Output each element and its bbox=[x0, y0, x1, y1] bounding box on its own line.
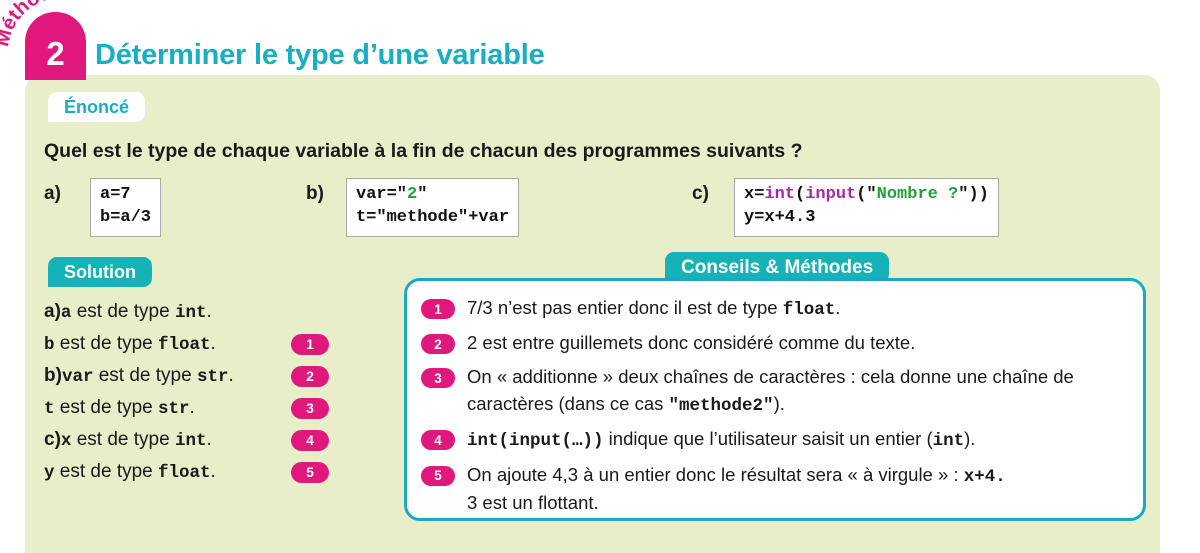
solution-end: . bbox=[228, 365, 233, 386]
solution-mid: est de type bbox=[55, 333, 159, 354]
solution-end: . bbox=[190, 397, 195, 418]
advice-part2: ). bbox=[774, 393, 785, 414]
code-c-p2: ( bbox=[795, 185, 805, 204]
solution-var: a bbox=[61, 303, 72, 323]
solution-end: . bbox=[211, 461, 216, 482]
advice-text: int(input(…)) indique que l’utilisateur … bbox=[467, 426, 975, 454]
solution-line: a)a est de type int. bbox=[44, 301, 212, 323]
solution-row: a)a est de type int. bbox=[44, 296, 344, 328]
solution-label: a) bbox=[44, 301, 61, 322]
advice-list: 1 7/3 n’est pas entier donc il est de ty… bbox=[421, 295, 1131, 524]
solution-label: b) bbox=[44, 365, 62, 386]
solution-row: b est de type float. 1 bbox=[44, 328, 344, 360]
solution-pill: 2 bbox=[291, 366, 329, 387]
solution-mid: est de type bbox=[71, 301, 175, 322]
advice-row: 4 int(input(…)) indique que l’utilisateu… bbox=[421, 426, 1131, 454]
code-box-a: a=7 b=a/3 bbox=[90, 178, 161, 237]
question-text: Quel est le type de chaque variable à la… bbox=[44, 140, 803, 163]
solution-row: y est de type float. 5 bbox=[44, 456, 344, 488]
advice-mono1: float bbox=[783, 300, 836, 320]
code-letter-a: a) bbox=[44, 183, 61, 205]
advice-part3: ). bbox=[964, 428, 975, 449]
solution-type: int bbox=[175, 431, 207, 451]
solution-pill: 4 bbox=[291, 430, 329, 451]
advice-mono1: x+4. bbox=[964, 467, 1006, 487]
method-badge: 2 bbox=[25, 12, 86, 80]
solution-line: b)var est de type str. bbox=[44, 365, 234, 387]
code-c-p3: (" bbox=[856, 185, 876, 204]
advice-pill: 2 bbox=[421, 334, 455, 354]
code-b-line2: t="methode"+var bbox=[356, 208, 509, 227]
solution-mid: est de type bbox=[55, 461, 159, 482]
advice-mono1: int(input(…)) bbox=[467, 431, 604, 451]
solution-type: float bbox=[158, 463, 211, 483]
advice-part1: On ajoute 4,3 à un entier donc le résult… bbox=[467, 464, 964, 485]
solution-line: y est de type float. bbox=[44, 461, 216, 483]
solution-type: str bbox=[197, 367, 229, 387]
code-b-line1-prefix: var=" bbox=[356, 185, 407, 204]
advice-pill: 4 bbox=[421, 430, 455, 450]
solution-end: . bbox=[206, 429, 211, 450]
page-title: Déterminer le type d’une variable bbox=[95, 39, 545, 72]
advice-row: 2 2 est entre guillemets donc considéré … bbox=[421, 330, 1131, 357]
code-box-b: var="2" t="methode"+var bbox=[346, 178, 519, 237]
advice-tail: 3 est un flottant. bbox=[467, 492, 599, 513]
advice-part1: 7/3 n’est pas entier donc il est de type bbox=[467, 297, 783, 318]
solution-var: y bbox=[44, 463, 55, 483]
advice-text: 2 est entre guillemets donc considéré co… bbox=[467, 330, 915, 357]
advice-text: On ajoute 4,3 à un entier donc le résult… bbox=[467, 462, 1006, 517]
code-c-kw1: int bbox=[764, 185, 795, 204]
code-box-c: x=int(input("Nombre ?")) y=x+4.3 bbox=[734, 178, 999, 237]
advice-part1: 2 est entre guillemets donc considéré co… bbox=[467, 332, 915, 353]
solution-type: int bbox=[175, 303, 207, 323]
advice-row: 3 On « additionne » deux chaînes de cara… bbox=[421, 364, 1131, 419]
code-a-line1: a=7 bbox=[100, 185, 131, 204]
page-root: 2 Méthode Déterminer le type d’une varia… bbox=[0, 0, 1200, 553]
solution-row: c)x est de type int. 4 bbox=[44, 424, 344, 456]
code-c-line2: y=x+4.3 bbox=[744, 208, 815, 227]
code-a-line2: b=a/3 bbox=[100, 208, 151, 227]
advice-text: On « additionne » deux chaînes de caract… bbox=[467, 364, 1127, 419]
solution-mid: est de type bbox=[55, 397, 159, 418]
method-number: 2 bbox=[25, 12, 86, 80]
solution-row: t est de type str. 3 bbox=[44, 392, 344, 424]
solution-end: . bbox=[211, 333, 216, 354]
solution-var: x bbox=[61, 431, 72, 451]
solution-var: t bbox=[44, 399, 55, 419]
advice-part2: indique que l’utilisateur saisit un enti… bbox=[604, 428, 933, 449]
code-c-kw2: input bbox=[805, 185, 856, 204]
advice-row: 5 On ajoute 4,3 à un entier donc le résu… bbox=[421, 462, 1131, 517]
solution-line: t est de type str. bbox=[44, 397, 195, 419]
code-c-string: Nombre ? bbox=[877, 185, 959, 204]
advice-mono2: int bbox=[933, 431, 965, 451]
advice-part2: . bbox=[835, 297, 840, 318]
advice-pill: 5 bbox=[421, 466, 455, 486]
advice-pill: 1 bbox=[421, 299, 455, 319]
solution-mid: est de type bbox=[93, 365, 197, 386]
solution-var: b bbox=[44, 335, 55, 355]
code-b-line1-string: 2 bbox=[407, 185, 417, 204]
solution-row: b)var est de type str. 2 bbox=[44, 360, 344, 392]
solution-end: . bbox=[206, 301, 211, 322]
advice-panel: 1 7/3 n’est pas entier donc il est de ty… bbox=[404, 278, 1146, 521]
solution-var: var bbox=[62, 367, 94, 387]
advice-text: 7/3 n’est pas entier donc il est de type… bbox=[467, 295, 840, 323]
advice-mono1: "methode2" bbox=[669, 396, 774, 416]
solution-pill: 1 bbox=[291, 334, 329, 355]
code-c-p1: x= bbox=[744, 185, 764, 204]
code-letter-b: b) bbox=[306, 183, 324, 205]
solution-label: c) bbox=[44, 429, 61, 450]
solution-type: str bbox=[158, 399, 190, 419]
advice-pill: 3 bbox=[421, 368, 455, 388]
tab-enonce[interactable]: Énoncé bbox=[48, 92, 145, 122]
solution-list: a)a est de type int. b est de type float… bbox=[44, 296, 344, 488]
solution-line: c)x est de type int. bbox=[44, 429, 212, 451]
code-b-line1-suffix: " bbox=[417, 185, 427, 204]
tab-solution[interactable]: Solution bbox=[48, 257, 152, 287]
solution-pill: 5 bbox=[291, 462, 329, 483]
solution-line: b est de type float. bbox=[44, 333, 216, 355]
solution-pill: 3 bbox=[291, 398, 329, 419]
solution-mid: est de type bbox=[71, 429, 175, 450]
solution-type: float bbox=[158, 335, 211, 355]
code-c-p4: ")) bbox=[958, 185, 989, 204]
code-letter-c: c) bbox=[692, 183, 709, 205]
advice-row: 1 7/3 n’est pas entier donc il est de ty… bbox=[421, 295, 1131, 323]
